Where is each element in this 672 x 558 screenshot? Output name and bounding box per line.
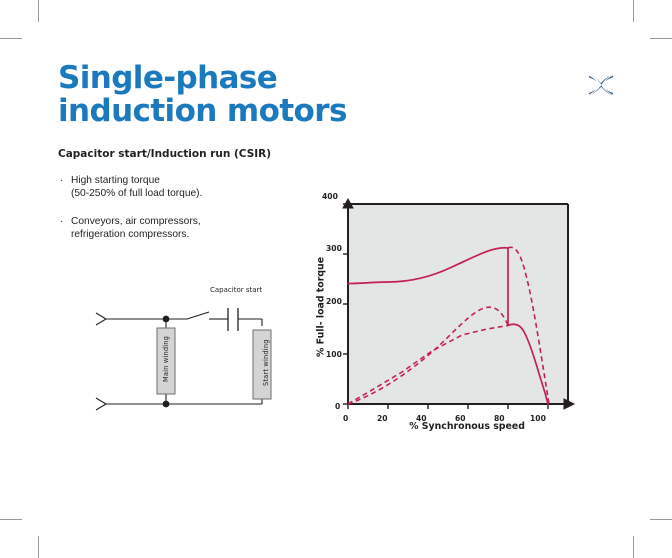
terminal-arrow-bottom <box>96 398 106 410</box>
torque-speed-chart: 400 300 200 100 0 0 20 40 60 80 100 % Fu… <box>312 188 580 440</box>
terminal-arrow-top <box>96 313 106 325</box>
chart-plot-svg <box>312 188 580 440</box>
list-item-text: High starting torque (50-250% of full lo… <box>71 174 202 201</box>
crop-mark-line-h <box>0 38 22 39</box>
main-winding-label: Main winding <box>158 320 174 398</box>
bullet-dot-icon: · <box>60 174 71 201</box>
circuit-diagram: Main winding Start winding Capacitor sta… <box>92 286 292 416</box>
section-subheading: Capacitor start/Induction run (CSIR) <box>58 148 271 160</box>
page-title: Single-phase induction motors <box>58 62 347 128</box>
brand-x-logo <box>586 72 616 102</box>
list-item: · High starting torque (50-250% of full … <box>60 174 300 201</box>
crop-mark-line-v <box>633 536 634 558</box>
list-item: · Conveyors, air compressors, refrigerat… <box>60 215 300 242</box>
crop-mark-line-h <box>650 519 672 520</box>
bullet-list: · High starting torque (50-250% of full … <box>60 174 300 256</box>
start-winding-label: Start winding <box>258 324 274 402</box>
crop-mark-line-v <box>38 536 39 558</box>
crop-mark-line-h <box>650 38 672 39</box>
crop-mark-line-v <box>633 0 634 22</box>
plot-area-background <box>348 204 568 404</box>
crop-mark-line-v <box>38 0 39 22</box>
capacitor-start-label: Capacitor start <box>210 286 262 294</box>
junction-dot-bottom <box>163 401 170 408</box>
bullet-dot-icon: · <box>60 215 71 242</box>
list-item-text: Conveyors, air compressors, refrigeratio… <box>71 215 201 242</box>
crop-mark-line-h <box>0 519 22 520</box>
switch-blade <box>187 312 209 319</box>
